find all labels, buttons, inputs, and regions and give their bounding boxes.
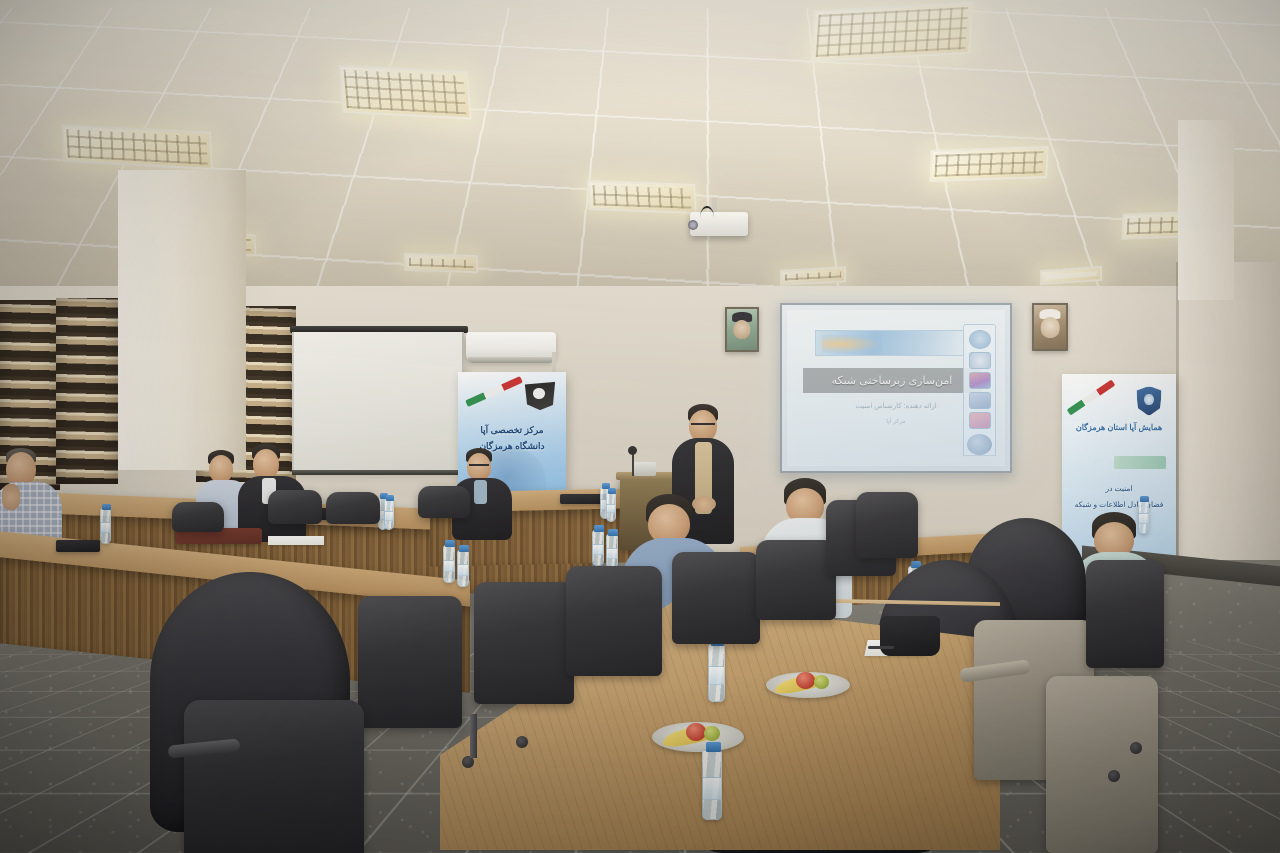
organization-logo-icon [969,392,991,409]
organization-logo-icon [969,372,991,389]
water-bottle [100,508,111,544]
office-chair[interactable] [1046,676,1158,853]
conference-room-photo: امن‌سازی زیرساختی شبکه ارائه دهنده: کارش… [0,0,1280,853]
iran-flag-ribbon [1067,380,1116,416]
bottle-cap [1140,496,1149,502]
office-chair[interactable] [418,486,470,518]
apple [704,726,720,741]
slide-title-text: امن‌سازی زیرساختی شبکه [832,374,953,387]
bottle-cap [608,488,616,494]
bottle-cap [459,545,469,552]
banner-line-1: مرکز تخصصی آپا [458,424,566,437]
projection-screen-weight-bar [292,470,464,475]
khamenei-portrait [1032,303,1068,351]
office-chair[interactable] [856,492,918,558]
water-bottle [606,492,616,522]
presenter-glasses-icon [691,423,715,426]
organization-logo-icon [969,330,991,349]
office-chair[interactable] [474,582,574,704]
panelist-head [209,455,233,483]
bottle-label [101,522,110,534]
office-chair[interactable] [326,492,380,524]
chair-center-post [470,714,477,758]
water-bottle [384,499,394,530]
banner-line-1: امنیت در [1062,484,1176,495]
panelist-glasses-icon [469,464,489,467]
bottle-label [444,560,454,572]
bottle-label [593,544,603,556]
apple [686,723,706,741]
slide-canvas: امن‌سازی زیرساختی شبکه ارائه دهنده: کارش… [787,310,1005,466]
retractable-projection-screen [292,332,464,472]
podium-control-device [634,462,656,476]
office-chair[interactable] [172,502,224,532]
banner-headline: همایش آپا استان هرمزگان [1062,422,1176,434]
air-conditioner-vent [468,357,554,363]
chair-caster [516,736,528,748]
office-chair[interactable] [672,552,760,644]
water-bottle [457,550,469,587]
bottle-label [458,564,468,576]
organization-logo-icon [969,352,991,369]
iran-flag-ribbon [465,376,523,407]
khomeini-portrait [725,307,759,352]
office-chair[interactable] [756,540,836,620]
bottle-cap [102,504,111,510]
handbag [880,616,940,656]
banner-emblem-icon [522,380,558,412]
panelist-shirt-collar [474,480,487,504]
fruit-plate [652,722,744,752]
ceiling-projector [690,212,748,236]
panelist-head [467,453,491,481]
office-chair[interactable] [566,566,662,676]
organization-logo-icon [969,412,991,429]
office-chair[interactable] [358,596,462,728]
structural-column [118,170,246,470]
office-chair[interactable] [268,490,322,524]
bottle-label [703,777,721,800]
portrait-face [733,320,750,339]
bottle-label [385,511,393,521]
microphone-icon [628,446,637,455]
apple [796,672,815,689]
projected-slide-screen: امن‌سازی زیرساختی شبکه ارائه دهنده: کارش… [780,303,1012,473]
office-chair[interactable] [184,700,364,853]
bottle-label [709,666,724,685]
microphone-stand [632,452,634,476]
portrait-face [1041,317,1060,337]
water-bottle [708,644,725,702]
security-shield-icon [1136,386,1162,416]
pen [868,646,894,649]
paper-sheet [268,536,324,545]
water-bottle [443,545,455,583]
bottle-label [607,504,615,514]
projector-lens-icon [688,220,698,230]
apple [814,675,829,689]
bottle-cap [445,540,455,547]
office-chair[interactable] [1086,560,1164,668]
slide-title-bar: امن‌سازی زیرساختی شبکه [803,368,981,393]
banner-line-2: فضای تبادل اطلاعات و شبکه [1062,500,1176,511]
laptop [56,540,100,552]
bottle-cap [386,495,394,501]
water-bottle [702,750,722,820]
bottle-cap [706,742,721,752]
organization-logo-icon [967,434,992,455]
chair-caster [1108,770,1120,782]
banner-accent-band [1114,456,1166,469]
panelist-head [6,452,36,486]
water-bottle [592,530,604,566]
panelist-head [253,449,279,479]
water-bottle [606,534,618,569]
chair-caster [1130,742,1142,754]
bottle-cap [608,529,618,536]
bottle-label [607,548,617,559]
fruit-plate [766,672,850,698]
panelist-hand [2,484,20,510]
slide-header-image [815,330,965,356]
slide-logo-strip [963,324,996,456]
structural-column [1178,120,1234,300]
bottle-cap [594,525,604,532]
